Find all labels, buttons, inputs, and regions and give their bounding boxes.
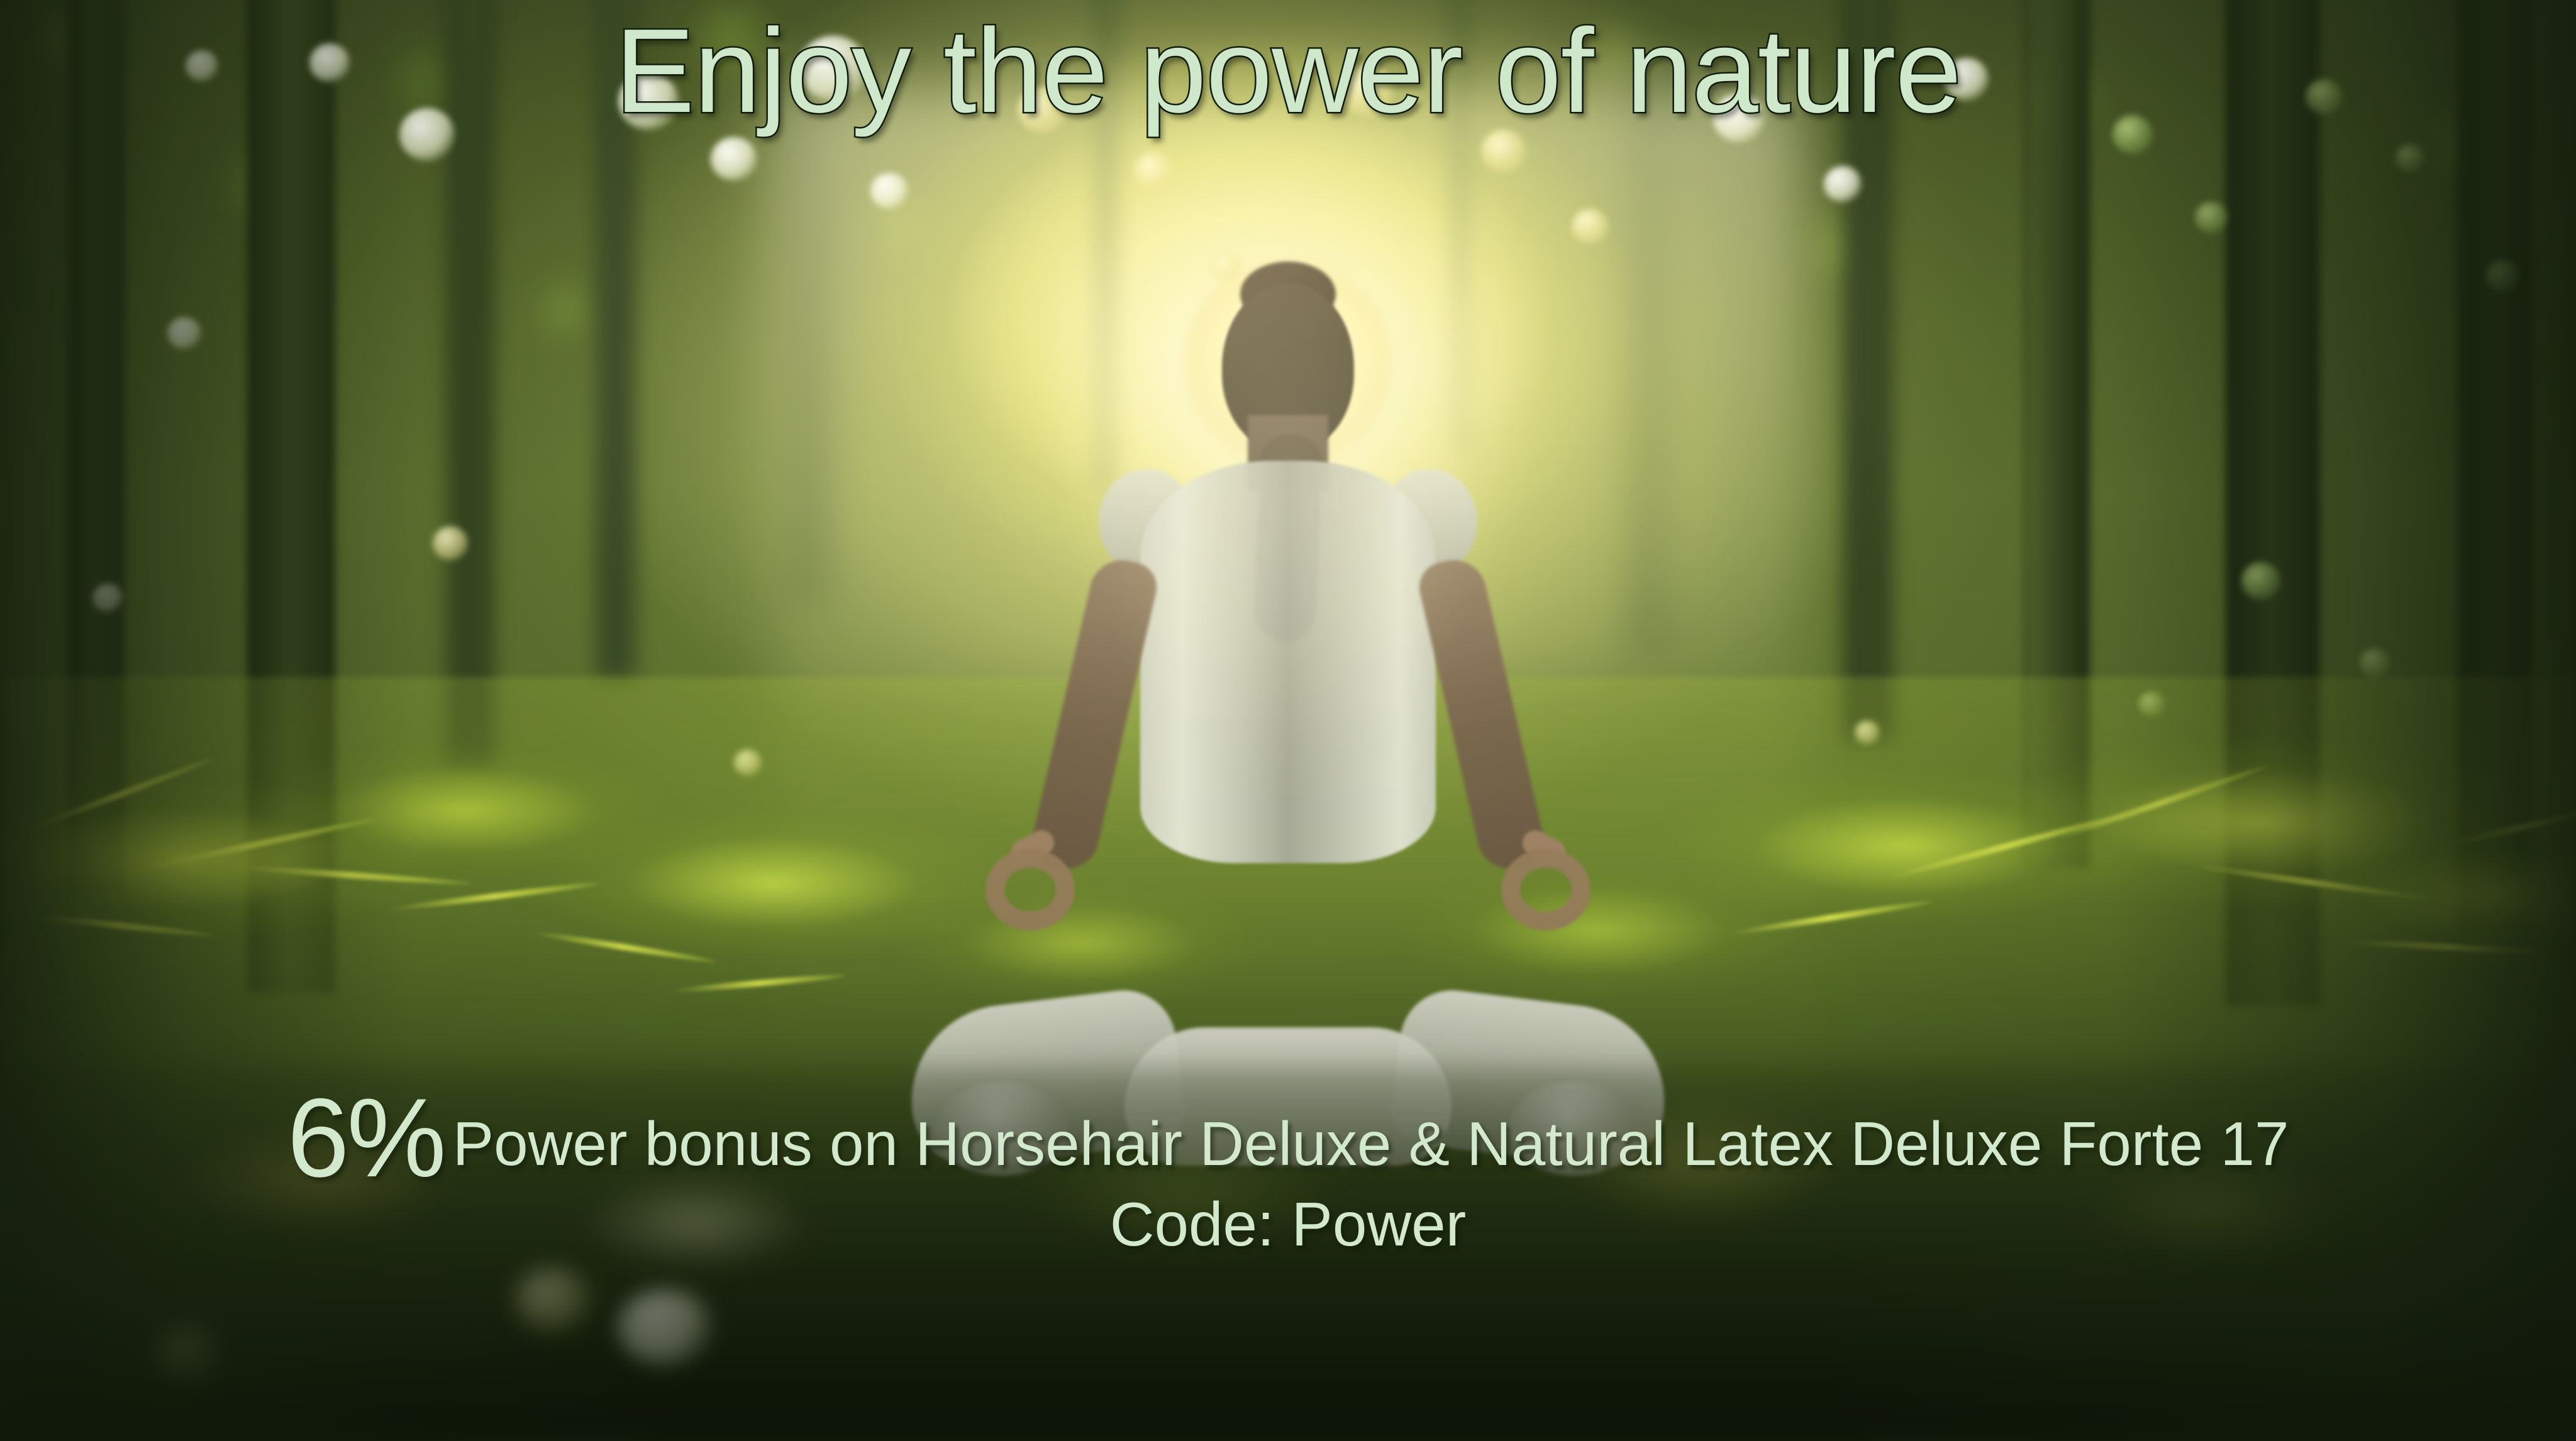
discount-percent: 6% bbox=[287, 1088, 443, 1188]
promo-offer-description: Power bonus on Horsehair Deluxe & Natura… bbox=[453, 1109, 2289, 1178]
promo-text-block: 6%Power bonus on Horsehair Deluxe & Natu… bbox=[0, 1088, 2576, 1261]
headline-text: Enjoy the power of nature bbox=[0, 11, 2576, 131]
promo-offer-line: 6%Power bonus on Horsehair Deluxe & Natu… bbox=[0, 1088, 2576, 1188]
promo-banner: Enjoy the power of nature 6%Power bonus … bbox=[0, 0, 2576, 1441]
